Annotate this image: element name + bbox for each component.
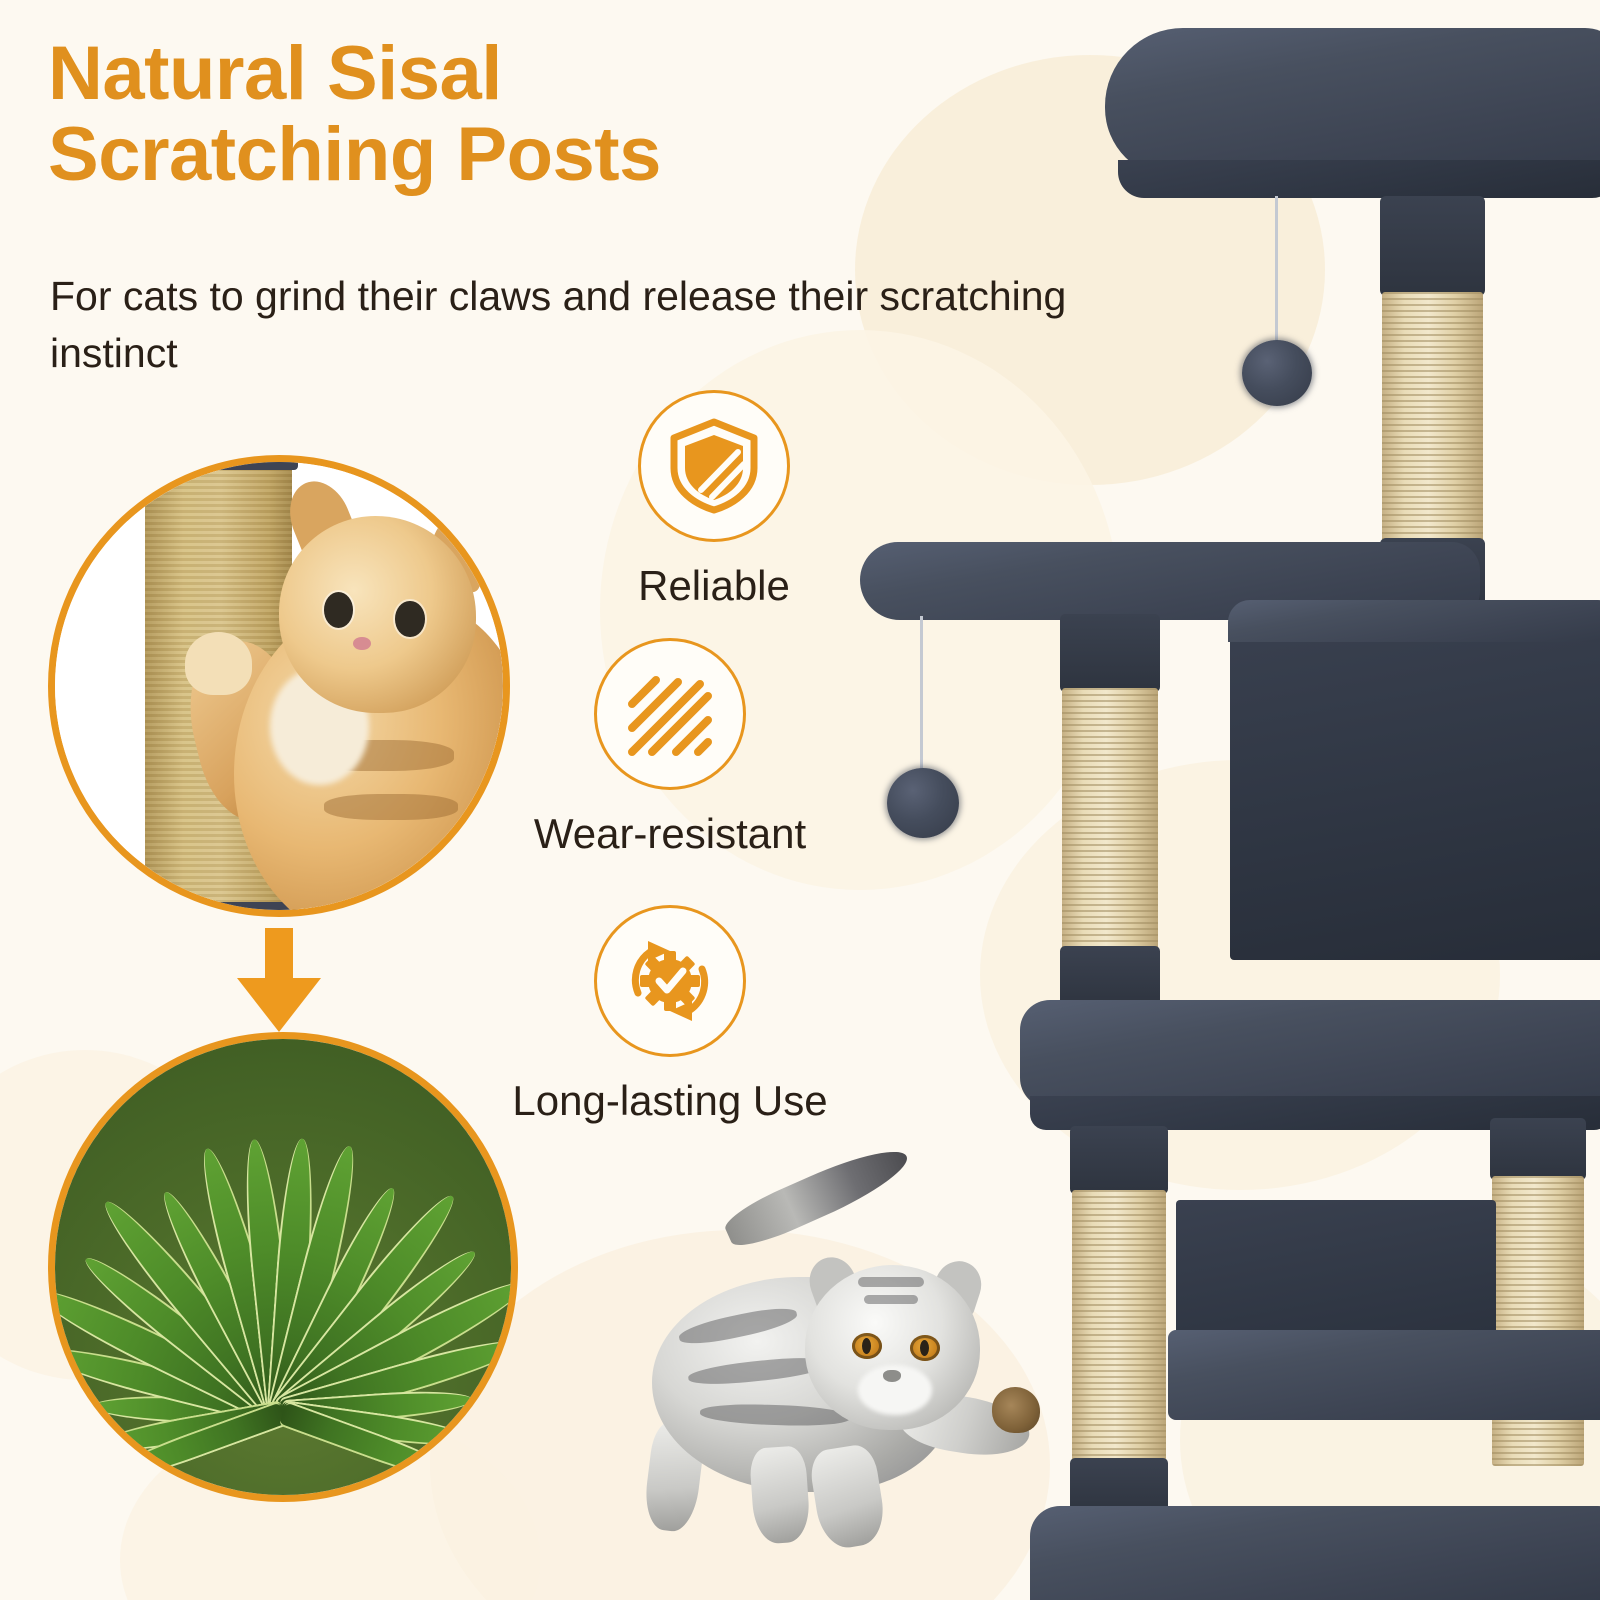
upper-pompom-string (1275, 196, 1278, 348)
kitten-tail (720, 1137, 915, 1255)
upper-pompom-toy (1242, 340, 1312, 406)
condo-box (1230, 610, 1600, 960)
feature-label: Long-lasting Use (440, 1077, 900, 1125)
cat-head (279, 516, 476, 713)
shield-icon (638, 390, 790, 542)
kitten-pupil (862, 1338, 871, 1354)
kitten-raised-paw (992, 1387, 1040, 1433)
middle-sisal-post (1062, 688, 1158, 950)
shelf-platform (1168, 1330, 1600, 1420)
upper-sisal-post (1382, 292, 1483, 542)
middle-post-collar-bottom (1060, 946, 1160, 1008)
top-perch-underside (1118, 160, 1600, 198)
page-title-line1: Natural Sisal (48, 31, 502, 116)
silver-tabby-kitten-photo (600, 1165, 1040, 1580)
kitten-forehead-stripe (864, 1295, 918, 1304)
page-title-line2: Scratching Posts (48, 115, 948, 196)
kitten-eye-right (910, 1335, 940, 1361)
cat-stripe (324, 794, 458, 821)
top-perch (1105, 28, 1600, 178)
page-subtitle: For cats to grind their claws and releas… (50, 268, 1110, 381)
cat-eye-left (324, 592, 353, 628)
lower-left-post-collar-top (1070, 1126, 1168, 1194)
lower-platform (1020, 1000, 1600, 1108)
lower-left-sisal-post (1072, 1190, 1166, 1462)
lower-right-sisal-post (1492, 1176, 1584, 1466)
kitten-pupil (920, 1340, 929, 1356)
gear-check-refresh-icon (594, 905, 746, 1057)
cat-scratching-sisal-post-photo (48, 455, 510, 917)
down-arrow-icon (237, 928, 321, 1032)
middle-post-collar-top (1060, 614, 1160, 692)
arrow-shaft (265, 928, 293, 984)
base-platform (1030, 1506, 1600, 1600)
condo-box-top (1228, 600, 1600, 642)
upper-post-collar-top (1380, 196, 1485, 296)
cat-nose (353, 637, 371, 650)
feature-long-lasting-use: Long-lasting Use (440, 905, 900, 1125)
feature-reliable: Reliable (524, 390, 904, 610)
diagonal-stripes-icon (594, 638, 746, 790)
kitten-eye-left (852, 1333, 882, 1359)
kitten-forehead-stripe (858, 1277, 924, 1287)
kitten-hind-leg-right (749, 1445, 812, 1545)
lower-right-post-collar-top (1490, 1118, 1586, 1180)
feature-label: Wear-resistant (470, 810, 870, 858)
feature-wear-resistant: Wear-resistant (470, 638, 870, 858)
feature-label: Reliable (524, 562, 904, 610)
kitten-nose (883, 1370, 901, 1382)
page-title: Natural Sisal Scratching Posts (48, 34, 948, 195)
cat-eye-right (395, 601, 424, 637)
arrow-head (237, 978, 321, 1032)
infographic-canvas: Natural Sisal Scratching Posts For cats … (0, 0, 1600, 1600)
cat-paw (185, 632, 252, 695)
middle-pompom-string (920, 616, 923, 776)
middle-pompom-toy (887, 768, 959, 838)
